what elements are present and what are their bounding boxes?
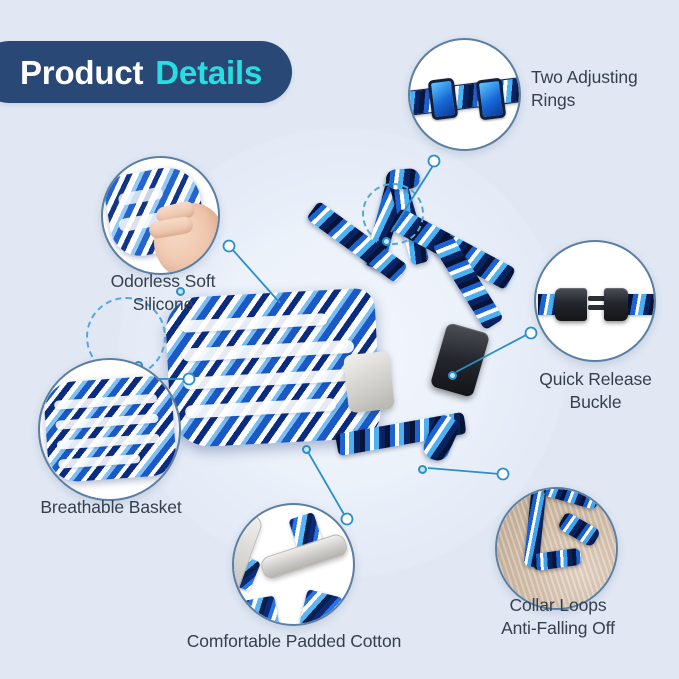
adjusting-ring-icon <box>427 78 458 121</box>
product-basket-vent-bar <box>182 340 355 362</box>
callout-label-comfortable-padded-cotton: Comfortable Padded Cotton <box>168 630 420 653</box>
product-basket-vent-bar <box>183 368 356 390</box>
callout-label-odorless-soft-silicone: Odorless Soft Silicone <box>90 270 236 316</box>
anchor-dot-collar-loops <box>418 465 427 474</box>
infographic-canvas: Product Details <box>0 0 679 679</box>
basket-vent-bar <box>55 414 158 430</box>
product-quick-release-buckle <box>430 322 490 398</box>
anchor-dot-rings <box>382 237 391 246</box>
connector-endpoint-cotton <box>342 514 353 525</box>
camo-strap-piece <box>299 589 342 624</box>
product-padded-nose-piece <box>343 351 395 413</box>
product-basket-vent-bar <box>180 313 327 333</box>
camo-strap-piece <box>243 595 279 624</box>
buckle-female-end <box>604 288 628 321</box>
callout-label-breathable-basket: Breathable Basket <box>16 496 206 519</box>
callout-image-quick-release-buckle <box>534 240 656 362</box>
buckle-prongs <box>588 296 606 301</box>
callout-image-odorless-soft-silicone <box>101 156 220 275</box>
page-title-banner: Product Details <box>0 41 292 103</box>
callout-image-comfortable-padded-cotton <box>232 503 355 626</box>
breathable-basket-sample <box>42 375 177 484</box>
page-title-primary: Product <box>20 56 143 89</box>
callout-image-collar-loops <box>495 487 618 610</box>
basket-vent-bar <box>58 454 140 469</box>
adjusting-ring-icon <box>475 78 506 121</box>
basket-vent-bar <box>56 434 159 450</box>
callout-label-collar-loops-anti-falling-off: Collar Loops Anti-Falling Off <box>478 594 638 640</box>
callout-label-two-adjusting-rings: Two Adjusting Rings <box>531 66 671 112</box>
dog-neck-fur <box>497 489 616 608</box>
callout-image-breathable-basket <box>38 358 181 501</box>
connector-endpoint-rings <box>429 156 440 167</box>
callout-image-two-adjusting-rings <box>408 38 521 151</box>
highlight-ring-adjusting-rings <box>362 183 424 245</box>
basket-vent-bar <box>54 394 157 410</box>
product-basket-vent-bar <box>185 398 337 419</box>
callout-label-quick-release-buckle: Quick Release Buckle <box>514 368 677 414</box>
anchor-dot-buckle <box>448 371 457 380</box>
page-title-accent: Details <box>155 56 262 89</box>
anchor-dot-padded-cotton <box>302 445 311 454</box>
buckle-male-end <box>555 288 587 321</box>
